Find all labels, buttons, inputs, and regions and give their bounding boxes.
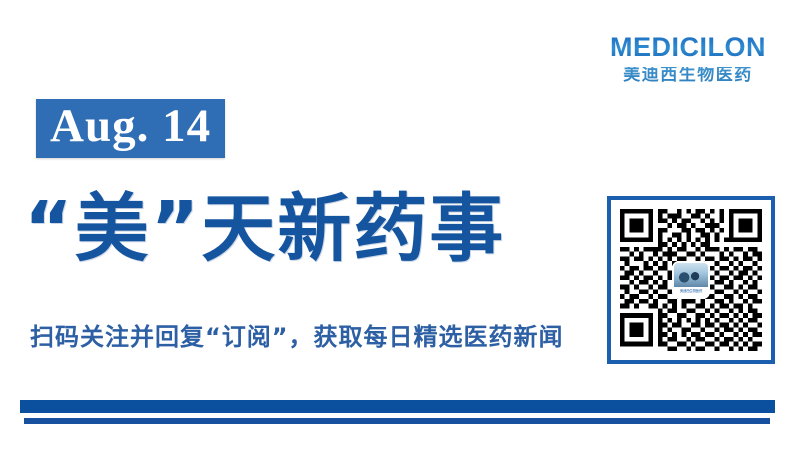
poster-canvas: MEDICILON 美迪西生物医药 Aug. 14 “美”天新药事 扫码关注并回…	[0, 0, 800, 468]
brand-wordmark: MEDICILON	[598, 34, 778, 61]
bottom-rule-thick	[20, 400, 775, 413]
qr-center-logo-photo	[674, 263, 708, 287]
headline-title: “美”天新药事	[24, 186, 505, 273]
brand-logo: MEDICILON 美迪西生物医药	[598, 34, 778, 84]
brand-chinese-name: 美迪西生物医药	[598, 67, 778, 84]
subtitle-text: 扫码关注并回复“订阅”，获取每日精选医药新闻	[30, 322, 564, 353]
qr-code-frame[interactable]: 美迪西生物医药	[607, 196, 775, 364]
date-badge-label: Aug. 14	[50, 102, 211, 151]
bottom-rule-thin	[24, 418, 770, 424]
qr-center-logo: 美迪西生物医药	[672, 261, 710, 299]
date-badge: Aug. 14	[36, 99, 225, 158]
qr-center-logo-caption: 美迪西生物医药	[674, 287, 708, 295]
qr-code-inner: 美迪西生物医药	[620, 209, 762, 351]
